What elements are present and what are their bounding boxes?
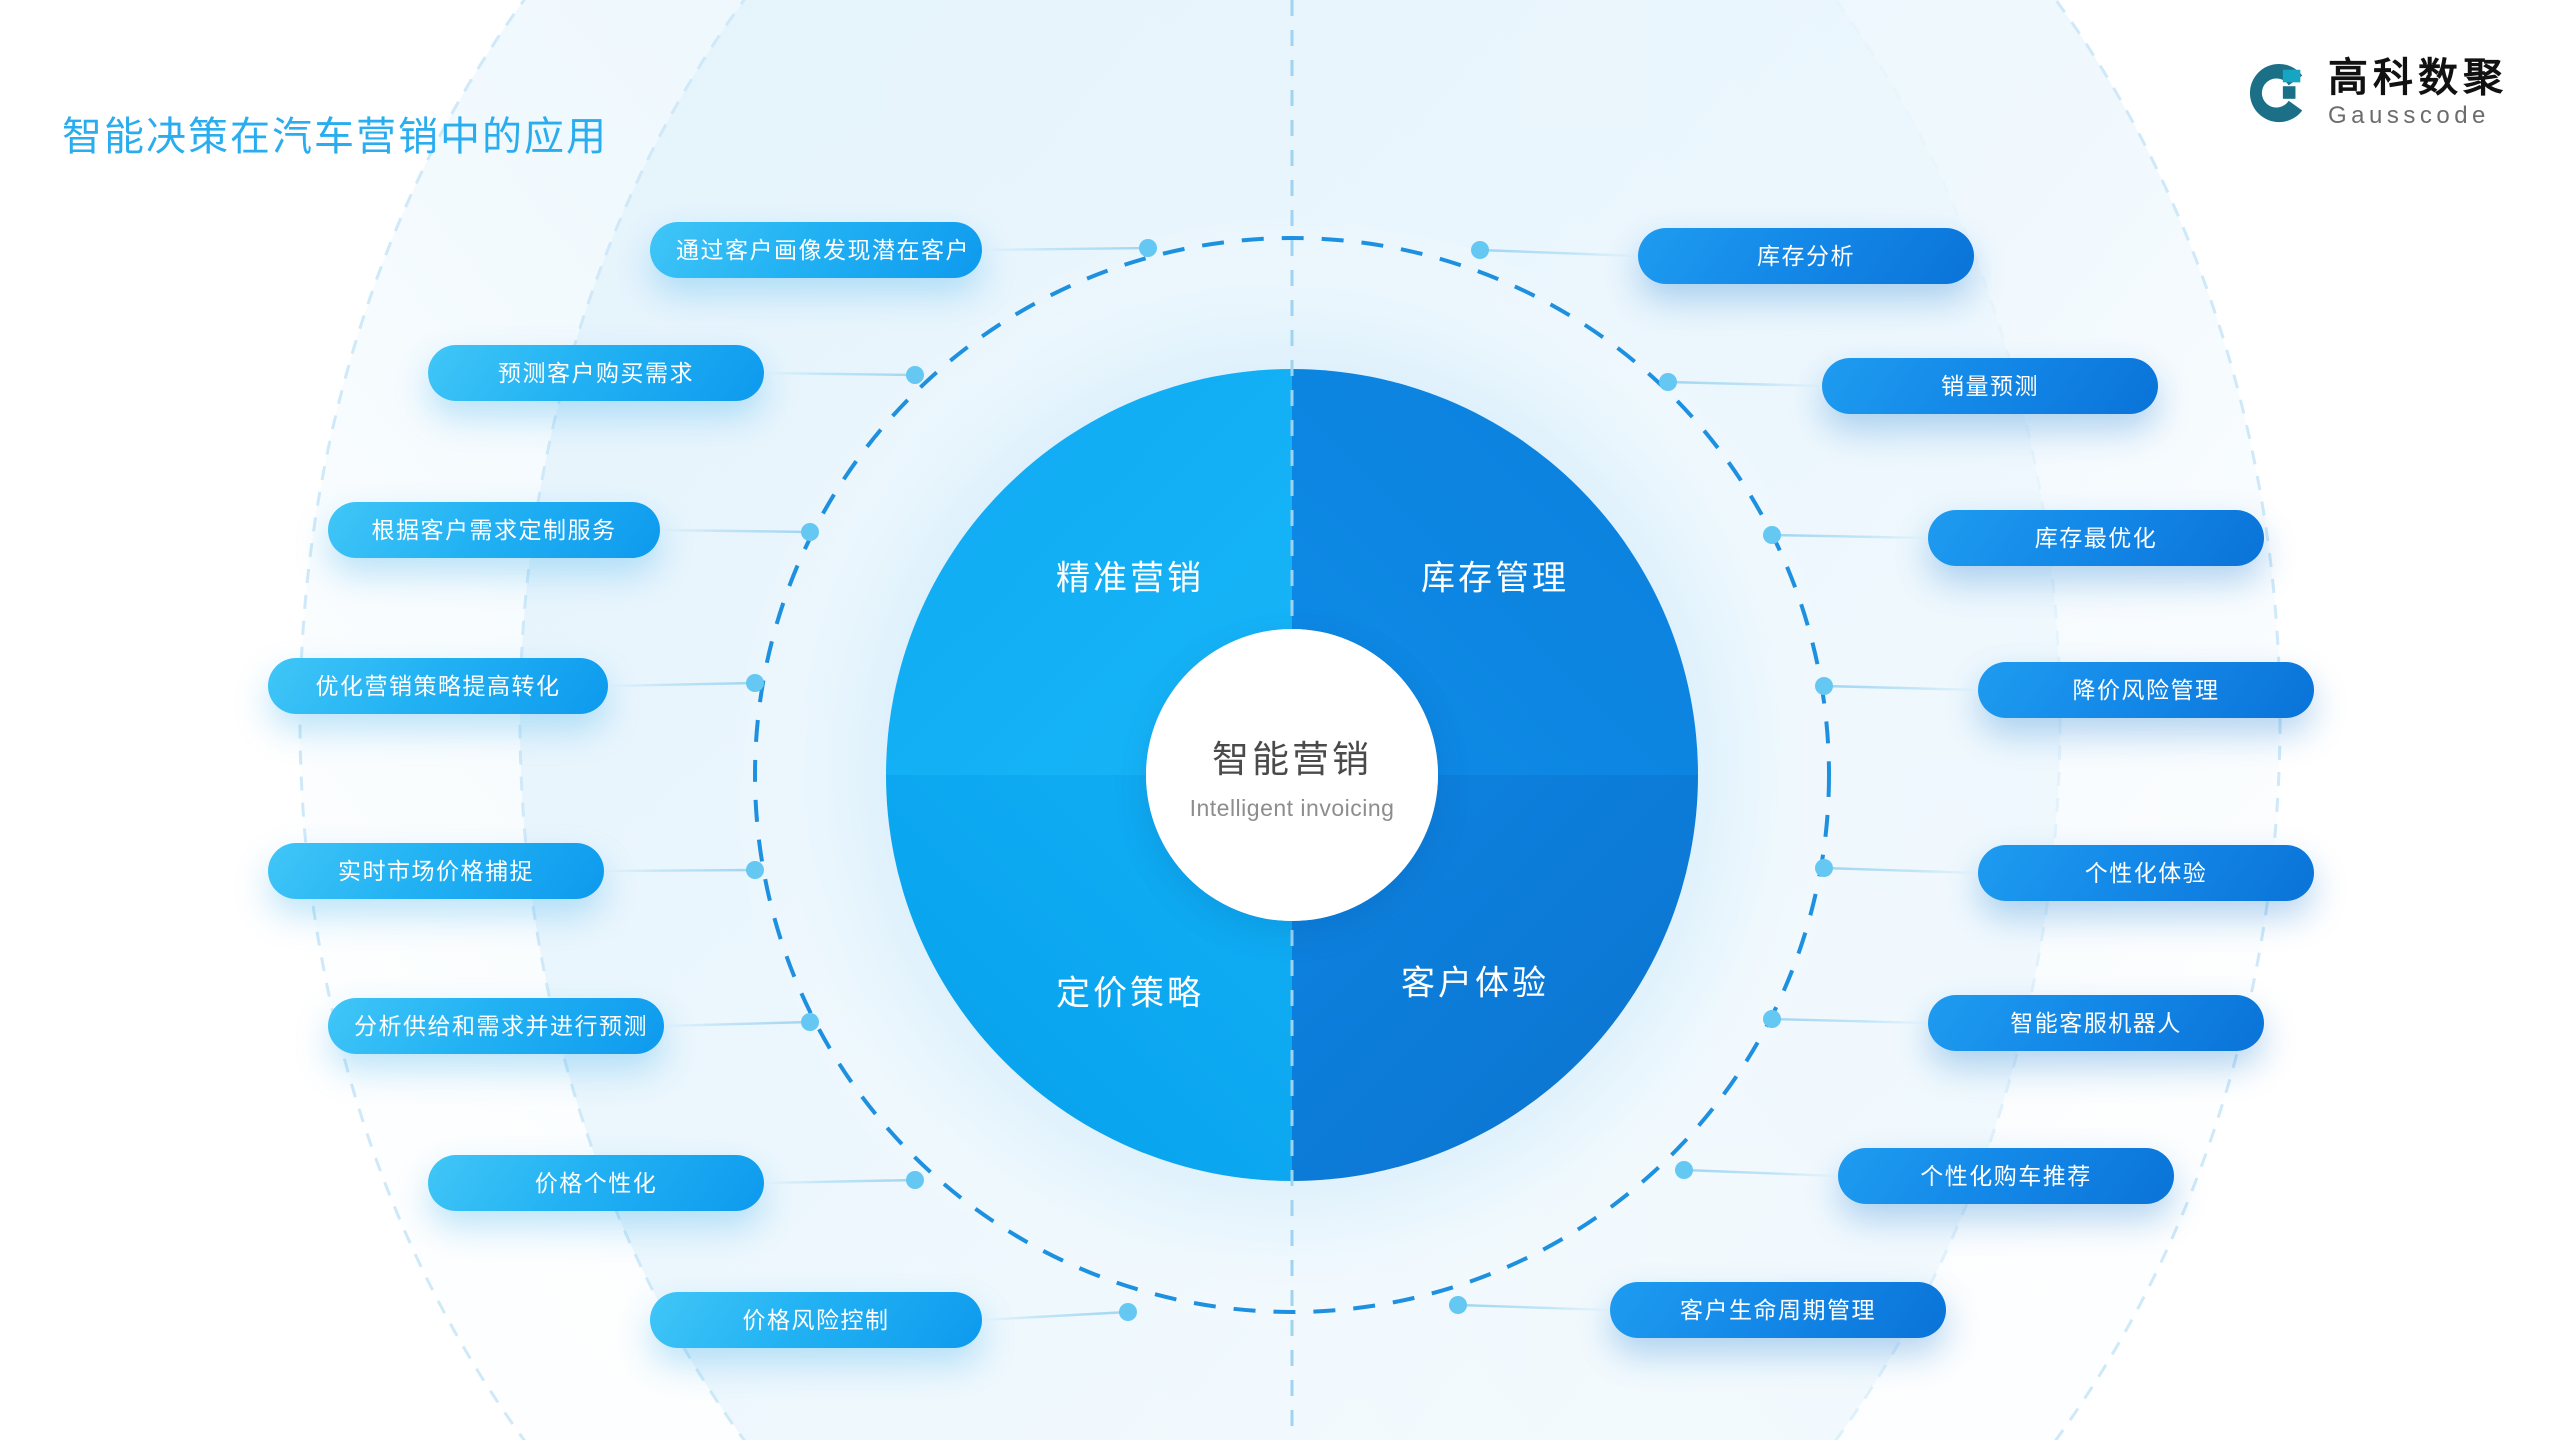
gausscode-logo-mark <box>2248 62 2310 124</box>
left-capability-pill-1[interactable]: 预测客户购买需求 <box>428 345 764 401</box>
left-connector-line-1 <box>764 373 915 375</box>
left-capability-pill-4[interactable]: 实时市场价格捕捉 <box>268 843 604 899</box>
right-capability-pill-5[interactable]: 智能客服机器人 <box>1928 995 2264 1051</box>
left-connector-dot-5 <box>801 1013 819 1031</box>
left-capability-pill-2[interactable]: 根据客户需求定制服务 <box>328 502 660 558</box>
logo-text-cn: 高科数聚 <box>2328 58 2508 98</box>
left-connector-line-2 <box>660 530 810 532</box>
right-connector-line-5 <box>1772 1019 1928 1023</box>
hub-subtitle: Intelligent invoicing <box>1190 795 1395 822</box>
right-connector-line-4 <box>1824 868 1978 873</box>
right-capability-pill-4[interactable]: 个性化体验 <box>1978 845 2314 901</box>
right-connector-line-0 <box>1480 250 1638 256</box>
center-hub: 智能营销 Intelligent invoicing <box>1146 629 1438 921</box>
left-connector-line-3 <box>608 683 755 686</box>
quadrant-label-2: 定价策略 <box>1056 966 1204 1015</box>
left-connector-line-5 <box>664 1022 810 1026</box>
hub-title: 智能营销 <box>1212 729 1372 783</box>
right-connector-line-7 <box>1458 1305 1610 1310</box>
quadrant-label-3: 客户体验 <box>1401 956 1549 1005</box>
right-connector-dot-4 <box>1815 859 1833 877</box>
right-capability-pill-2[interactable]: 库存最优化 <box>1928 510 2264 566</box>
quadrant-label-1: 库存管理 <box>1421 551 1569 600</box>
right-capability-pill-0[interactable]: 库存分析 <box>1638 228 1974 284</box>
right-connector-line-2 <box>1772 535 1928 538</box>
right-capability-pill-1[interactable]: 销量预测 <box>1822 358 2158 414</box>
right-connector-line-1 <box>1668 382 1822 386</box>
left-connector-dot-1 <box>906 366 924 384</box>
right-connector-dot-3 <box>1815 677 1833 695</box>
left-capability-pill-7[interactable]: 价格风险控制 <box>650 1292 982 1348</box>
right-connector-dot-0 <box>1471 241 1489 259</box>
right-connector-dot-6 <box>1675 1161 1693 1179</box>
right-connector-dot-2 <box>1763 526 1781 544</box>
right-capability-pill-6[interactable]: 个性化购车推荐 <box>1838 1148 2174 1204</box>
left-connector-dot-0 <box>1139 239 1157 257</box>
left-connector-dot-4 <box>746 861 764 879</box>
left-connector-line-0 <box>982 248 1148 250</box>
quadrant-label-0: 精准营销 <box>1056 551 1204 600</box>
left-connector-line-4 <box>604 870 755 871</box>
left-connector-dot-6 <box>906 1171 924 1189</box>
left-connector-line-7 <box>982 1312 1128 1320</box>
right-connector-line-6 <box>1684 1170 1838 1176</box>
page-title: 智能决策在汽车营销中的应用 <box>62 104 608 162</box>
right-capability-pill-3[interactable]: 降价风险管理 <box>1978 662 2314 718</box>
infographic-canvas: 智能决策在汽车营销中的应用 高科数聚 Gausscode 精准营销库存管理定价策… <box>0 0 2560 1440</box>
left-connector-line-6 <box>764 1180 915 1183</box>
brand-logo: 高科数聚 Gausscode <box>2248 58 2508 128</box>
right-capability-pill-7[interactable]: 客户生命周期管理 <box>1610 1282 1946 1338</box>
right-connector-dot-1 <box>1659 373 1677 391</box>
logo-text-en: Gausscode <box>2328 104 2508 128</box>
right-connector-dot-7 <box>1449 1296 1467 1314</box>
left-connector-dot-7 <box>1119 1303 1137 1321</box>
left-capability-pill-5[interactable]: 分析供给和需求并进行预测 <box>328 998 664 1054</box>
left-capability-pill-0[interactable]: 通过客户画像发现潜在客户 <box>650 222 982 278</box>
left-connector-dot-2 <box>801 523 819 541</box>
right-connector-line-3 <box>1824 686 1978 690</box>
right-connector-dot-5 <box>1763 1010 1781 1028</box>
left-capability-pill-3[interactable]: 优化营销策略提高转化 <box>268 658 608 714</box>
left-capability-pill-6[interactable]: 价格个性化 <box>428 1155 764 1211</box>
left-connector-dot-3 <box>746 674 764 692</box>
